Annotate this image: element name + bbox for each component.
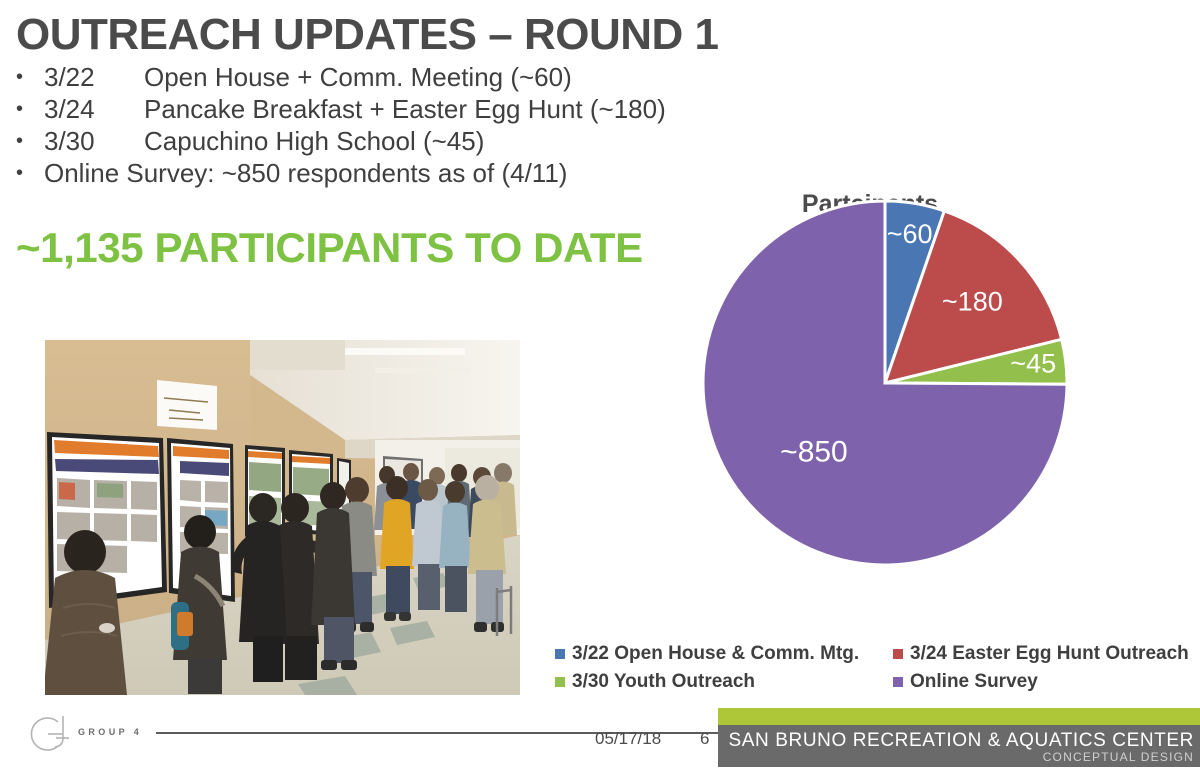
- legend-item[interactable]: 3/24 Easter Egg Hunt Outreach: [875, 640, 1195, 668]
- page-title: OUTREACH UPDATES – ROUND 1: [16, 8, 718, 62]
- bullet-date: 3/30: [44, 126, 144, 157]
- bullet-date: 3/22: [44, 62, 144, 93]
- legend-label: 3/24 Easter Egg Hunt Outreach: [910, 640, 1189, 668]
- legend-label: 3/22 Open House & Comm. Mtg.: [572, 640, 859, 668]
- logo-wordmark: GROUP 4: [78, 727, 142, 737]
- pie-slice-label: ~180: [942, 286, 1003, 316]
- legend-swatch-icon: [555, 649, 565, 659]
- pie-chart: ~60~180~45~850: [700, 198, 1070, 568]
- bullet-text: Open House + Comm. Meeting (~60): [144, 62, 572, 93]
- footer-date: 05/17/18: [595, 729, 661, 749]
- legend-swatch-icon: [893, 649, 903, 659]
- legend-swatch-icon: [555, 677, 565, 687]
- legend-label: Online Survey: [910, 668, 1038, 696]
- pie-slices: [703, 201, 1067, 565]
- slide: OUTREACH UPDATES – ROUND 1 • 3/22 Open H…: [0, 0, 1200, 776]
- chart-legend: 3/22 Open House & Comm. Mtg. 3/24 Easter…: [555, 640, 1195, 696]
- project-subtitle: CONCEPTUAL DESIGN: [1043, 750, 1194, 764]
- project-title: SAN BRUNO RECREATION & AQUATICS CENTER: [729, 730, 1195, 752]
- legend-label: 3/30 Youth Outreach: [572, 668, 755, 696]
- bullet-text: Capuchino High School (~45): [144, 126, 484, 157]
- bullet-list: • 3/22 Open House + Comm. Meeting (~60) …: [16, 62, 716, 190]
- participants-chart: Partcipants ~60~180~45~850 3/22 Open Hou…: [545, 190, 1195, 700]
- bullet-date: 3/24: [44, 94, 144, 125]
- legend-swatch-icon: [893, 677, 903, 687]
- bullet-icon: •: [16, 62, 44, 93]
- pie-slice-label: ~60: [887, 219, 933, 249]
- bullet-icon: •: [16, 126, 44, 157]
- footer-accent-bar: [718, 708, 1200, 725]
- pie-slice-label: ~850: [780, 435, 848, 468]
- outreach-photo: [45, 340, 520, 695]
- legend-item[interactable]: 3/30 Youth Outreach: [555, 668, 875, 696]
- bullet-text: Online Survey: ~850 respondents as of (4…: [44, 158, 567, 189]
- pie-slice-label: ~45: [1010, 349, 1056, 379]
- bullet-icon: •: [16, 158, 44, 189]
- list-item: • 3/22 Open House + Comm. Meeting (~60): [16, 62, 716, 93]
- legend-item[interactable]: Online Survey: [875, 668, 1195, 696]
- legend-item[interactable]: 3/22 Open House & Comm. Mtg.: [555, 640, 875, 668]
- bullet-text: Pancake Breakfast + Easter Egg Hunt (~18…: [144, 94, 666, 125]
- list-item: • 3/24 Pancake Breakfast + Easter Egg Hu…: [16, 94, 716, 125]
- list-item: • 3/30 Capuchino High School (~45): [16, 126, 716, 157]
- photo-illustration: [45, 340, 520, 695]
- bullet-icon: •: [16, 94, 44, 125]
- list-item: • Online Survey: ~850 respondents as of …: [16, 158, 716, 189]
- page-number: 6: [700, 729, 709, 749]
